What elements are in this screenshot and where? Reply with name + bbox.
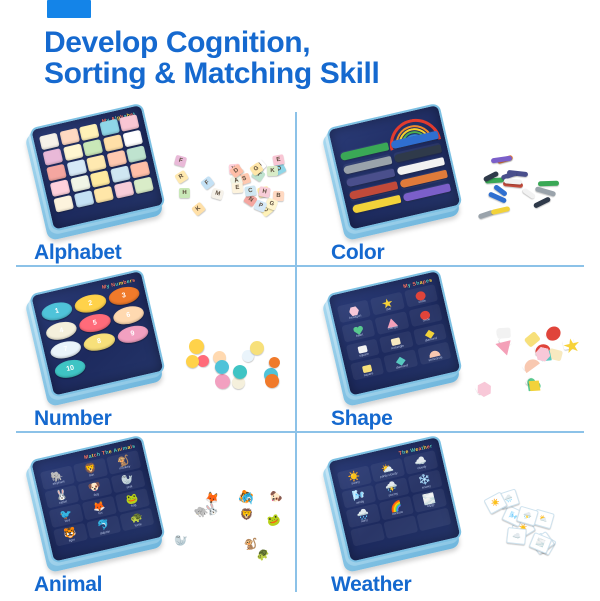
loose-pieces-color	[467, 156, 587, 230]
page-title: Develop Cognition, Sorting & Matching Sk…	[44, 28, 564, 90]
loose-pieces-alphabet: ABCDEFGHKMNPRSTWABCDEFGHKM	[172, 152, 290, 224]
panel-color[interactable]: Color	[299, 104, 595, 269]
panel-label-shape: Shape	[331, 407, 393, 431]
panel-shape[interactable]: My Shapes hexagonstarcirclehearttriangle…	[299, 270, 595, 435]
panel-label-weather: Weather	[331, 573, 411, 597]
page-title-line1: Develop Cognition,	[44, 26, 310, 59]
page-title-line2: Sorting & Matching Skill	[44, 59, 564, 90]
crayon-slot-grid	[340, 130, 452, 215]
panel-label-animal: Animal	[34, 573, 102, 597]
quiet-book-alphabet: My Alphabet	[29, 104, 169, 238]
accent-bar	[47, 0, 91, 18]
loose-pieces-weather: ☀️⛅☁️🌬️⛈️❄️🌧️🌈🌫️☀️	[469, 486, 589, 564]
alphabet-tile-grid	[39, 114, 154, 212]
loose-pieces-number	[174, 326, 290, 396]
quiet-book-animal: Match The Animals 🐘elephant🦁lion🐒monkey🐰…	[29, 436, 169, 570]
weather-slot-grid: ☀️sunny⛅partly cloudy☁️cloudy🌬️windy⛈️st…	[337, 450, 452, 547]
shape-slot-grid: hexagonstarcirclehearttrianglecirclesqua…	[337, 284, 452, 381]
quiet-book-color	[326, 104, 466, 238]
panel-label-alphabet: Alphabet	[34, 241, 121, 265]
quiet-book-number: My Numbers 12345678910	[29, 270, 169, 404]
animal-slot-grid: 🐘elephant🦁lion🐒monkey🐰rabbit🐶dog🦭seal🐦bi…	[40, 450, 155, 547]
quiet-book-weather: The Weather ☀️sunny⛅partly cloudy☁️cloud…	[326, 436, 466, 570]
quiet-book-shape: My Shapes hexagonstarcirclehearttriangle…	[326, 270, 466, 404]
panel-alphabet[interactable]: My Alphabet ABCDEFGHKMNPRSTWABCDEFGHKM A…	[2, 104, 298, 269]
panel-number[interactable]: My Numbers 12345678910 Number	[2, 270, 298, 435]
panel-weather[interactable]: The Weather ☀️sunny⛅partly cloudy☁️cloud…	[299, 436, 595, 601]
poster-root: Develop Cognition, Sorting & Matching Sk…	[0, 0, 600, 600]
panel-animal[interactable]: Match The Animals 🐘elephant🦁lion🐒monkey🐰…	[2, 436, 298, 601]
panel-label-number: Number	[34, 407, 112, 431]
panel-label-color: Color	[331, 241, 384, 265]
loose-pieces-shape	[469, 326, 587, 398]
number-disc-grid: 12345678910	[40, 284, 155, 381]
feature-grid: My Alphabet ABCDEFGHKMNPRSTWABCDEFGHKM A…	[0, 104, 600, 600]
loose-pieces-animal: 🐘🦁🐒🐰🐶🦭🐦🦊🐸🐯🐬🐢	[170, 490, 292, 564]
